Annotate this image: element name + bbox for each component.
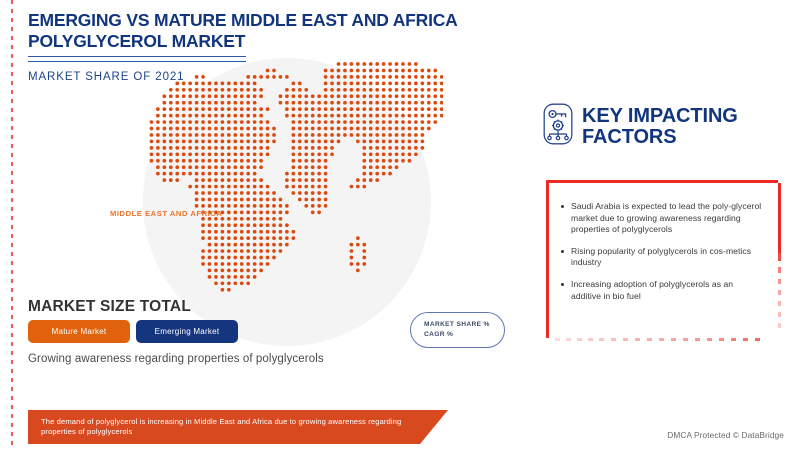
- list-item: Rising popularity of polyglycerols in co…: [571, 246, 764, 269]
- key-factors-box-bottom-border: [549, 338, 778, 341]
- key-gear-network-icon: [543, 103, 573, 150]
- market-size-note: Growing awareness regarding properties o…: [28, 353, 324, 365]
- legend-mature-market[interactable]: Mature Market: [28, 320, 130, 343]
- page-title-line-2: POLYGLYCEROL MARKET: [28, 31, 245, 51]
- list-item: Saudi Arabia is expected to lead the pol…: [571, 201, 764, 236]
- legend-emerging-market-label: Emerging Market: [155, 327, 220, 336]
- page-title-line-1: EMERGING VS MATURE MIDDLE EAST AND AFRIC…: [28, 10, 458, 30]
- bottom-callout-banner: The demand of polyglycerol is increasing…: [28, 410, 448, 444]
- market-size-total-heading: MARKET SIZE TOTAL: [28, 298, 191, 316]
- cagr-label: CAGR %: [424, 330, 504, 341]
- market-legend: Mature Market Emerging Market: [28, 320, 238, 343]
- list-item: Increasing adoption of polyglycerols as …: [571, 279, 764, 302]
- market-share-label: MARKET SHARE %: [424, 320, 504, 331]
- infographic-canvas: EMERGING VS MATURE MIDDLE EAST AND AFRIC…: [0, 0, 800, 450]
- map-region-label: MIDDLE EAST AND AFRICA: [110, 209, 222, 218]
- kif-title-line-2: FACTORS: [582, 126, 677, 148]
- kif-title-line-1: KEY IMPACTING: [582, 105, 738, 127]
- key-impacting-factors-title: KEY IMPACTING FACTORS: [582, 106, 738, 148]
- legend-emerging-market[interactable]: Emerging Market: [136, 320, 238, 343]
- footer-copyright: DMCA Protected © DataBridge: [667, 430, 784, 440]
- key-impacting-factors-header: KEY IMPACTING FACTORS: [543, 103, 738, 150]
- left-dotted-rail: [11, 0, 13, 450]
- market-share-cagr-badge: MARKET SHARE % CAGR %: [410, 312, 505, 348]
- legend-mature-market-label: Mature Market: [52, 327, 107, 336]
- bottom-callout-text: The demand of polyglycerol is increasing…: [28, 410, 448, 438]
- key-factors-box: Saudi Arabia is expected to lead the pol…: [546, 180, 778, 338]
- page-title: EMERGING VS MATURE MIDDLE EAST AND AFRIC…: [28, 10, 498, 52]
- key-factors-box-right-border: [778, 183, 781, 338]
- key-factors-list: Saudi Arabia is expected to lead the pol…: [549, 183, 778, 302]
